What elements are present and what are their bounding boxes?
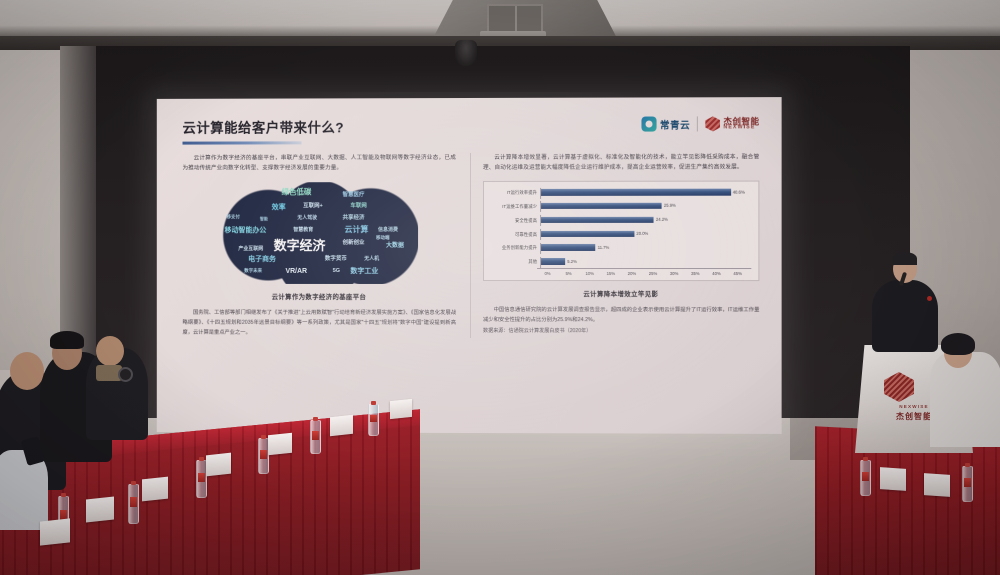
word-cloud-term: VR/AR: [285, 268, 307, 275]
audience-head-3: [96, 336, 124, 366]
chart-value-label: 20.0%: [636, 231, 648, 236]
hexagon-mark-icon: [705, 116, 720, 131]
nexwise-logo: 杰创智能 NEXWISE: [705, 116, 759, 131]
chart-category-label: 可靠性提高: [490, 232, 540, 238]
projection-screen: 云计算能给客户带来什么? 常青云 杰创智能 NEXWISE: [157, 97, 782, 434]
name-card: [40, 518, 70, 545]
word-cloud-term: 移动智能办公: [225, 227, 267, 234]
word-cloud-words: 数字经济云计算绿色低碳智慧医疗效率互联网+车联网无人驾驶共享经济移动智能办公智慧…: [221, 182, 418, 284]
word-cloud-term: 智能: [260, 218, 268, 222]
chart-x-axis: 0%5%10%15%20%25%30%35%40%45%: [537, 268, 751, 276]
water-bottle: [368, 404, 379, 436]
word-cloud-term: 智慧医疗: [343, 193, 365, 199]
right-paragraph: 云计算降本增效显著，云计算基于虚拟化、标准化及智能化的技术，能立竿见影降低采购成…: [483, 152, 759, 173]
audience-head-1: [10, 352, 44, 390]
bar-chart: IT运行效率提升40.6%IT运维工作量减少25.9%安全性提高24.2%可靠性…: [490, 187, 751, 275]
word-cloud-term: 移动端: [376, 236, 389, 240]
bottle-cap: [131, 481, 136, 485]
chart-row: 可靠性提高20.0%: [490, 229, 751, 240]
word-cloud-term: 产业互联网: [238, 247, 263, 252]
chart-track: 5.2%: [540, 257, 751, 268]
chart-value-label: 40.6%: [733, 189, 745, 194]
page-title: 云计算能给客户带来什么?: [183, 116, 345, 136]
changqingyun-label: 常青云: [660, 117, 690, 131]
nexwise-label-en: NEXWISE: [723, 125, 759, 130]
chart-row: IT运行效率提升40.6%: [490, 187, 751, 198]
word-cloud-term: 云计算: [345, 226, 369, 234]
word-cloud-term: 信息消费: [378, 228, 398, 233]
slide-header: 云计算能给客户带来什么? 常青云 杰创智能 NEXWISE: [183, 115, 760, 144]
word-cloud-term: 共享经济: [343, 216, 365, 222]
chart-track: 40.6%: [540, 187, 751, 198]
name-card: [268, 433, 292, 456]
word-cloud-term: 数字经济: [274, 239, 326, 252]
chart-value-label: 11.7%: [598, 245, 610, 250]
name-card: [924, 473, 950, 497]
chart-row: 业务创新能力提升11.7%: [490, 243, 751, 254]
chart-track: 24.2%: [540, 215, 751, 226]
name-card: [330, 415, 353, 436]
changqingyun-logo: 常青云: [642, 116, 690, 131]
water-bottle: [310, 420, 321, 454]
water-bottle: [860, 460, 871, 496]
chart-bar: [541, 244, 596, 251]
word-cloud-term: 绿色低碳: [282, 188, 312, 196]
word-cloud-term: 数字未来: [244, 269, 262, 273]
word-cloud-term: 大数据: [386, 243, 404, 249]
chart-bar: [541, 203, 662, 210]
data-source-note: 数据来源：信通院云计算发展白皮书（2020年）: [483, 327, 759, 336]
word-cloud-term: 创新创业: [343, 241, 365, 246]
chart-bar: [541, 258, 565, 265]
word-cloud-term: 数字货币: [325, 257, 347, 262]
projector-icon: [455, 40, 477, 66]
slide-content: 云计算能给客户带来什么? 常青云 杰创智能 NEXWISE: [157, 97, 782, 434]
left-column: 云计算作为数字经济的基座平台，串联产业互联网、大数据、人工智能及物联网等数字经济…: [183, 153, 456, 338]
conference-room-photo: 云计算能给客户带来什么? 常青云 杰创智能 NEXWISE: [0, 0, 1000, 575]
name-card: [390, 399, 412, 419]
chart-track: 11.7%: [540, 243, 751, 254]
title-underline: [183, 141, 302, 144]
audience-hair-2: [50, 331, 84, 349]
bottle-cap: [313, 417, 318, 421]
word-cloud-term: 互联网+: [303, 204, 323, 210]
chart-row: 其他5.2%: [490, 257, 751, 268]
camera-lens-icon: [118, 367, 133, 382]
speaker-hair: [893, 252, 917, 265]
chart-bar: [541, 189, 731, 196]
name-card: [880, 467, 906, 491]
chart-category-label: IT运行效率提升: [490, 190, 540, 196]
cloud-mark-icon: [642, 117, 657, 132]
word-cloud-term: 无人驾驶: [297, 216, 317, 221]
ceiling-vent: [487, 4, 543, 34]
right-column: 云计算降本增效显著，云计算基于虚拟化、标准化及智能化的技术，能立竿见影降低采购成…: [470, 152, 759, 338]
word-cloud-term: 效率: [272, 204, 286, 211]
chart-bar: [541, 230, 634, 237]
slide-title-block: 云计算能给客户带来什么?: [183, 116, 345, 144]
bottle-cap: [261, 435, 266, 439]
word-cloud-term: 电子商务: [248, 256, 276, 263]
bottle-cap: [199, 457, 204, 461]
word-cloud-term: 无人机: [364, 257, 379, 262]
slide-columns: 云计算作为数字经济的基座平台，串联产业互联网、大数据、人工智能及物联网等数字经济…: [183, 152, 760, 338]
bottle-cap: [863, 457, 868, 461]
logo-divider: [697, 116, 698, 131]
water-bottle: [128, 484, 139, 524]
bottle-cap: [371, 401, 376, 405]
right-figure-caption: 云计算降本增效立竿见影: [483, 289, 759, 298]
lapel-flower: [927, 296, 932, 301]
word-cloud-term: 智慧教育: [293, 228, 313, 233]
bottle-cap: [61, 493, 66, 497]
left-footnote: 国务院、工信部等部门相继发布了《关于推进"上云用数赋智"行动培育新经济发展实施方…: [183, 307, 456, 337]
word-cloud-term: 5G: [333, 269, 340, 274]
chart-track: 25.9%: [540, 201, 751, 212]
chart-category-label: 其他: [490, 259, 540, 265]
word-cloud-term: 移支付: [227, 216, 240, 220]
staff-body: [930, 352, 1000, 447]
name-card: [142, 477, 168, 502]
nexwise-text: 杰创智能 NEXWISE: [723, 117, 759, 131]
chart-row: 安全性提高24.2%: [490, 215, 751, 226]
right-footnote: 中国信息通信研究院的云计算发展调查报告显示，超四成的企业表示使用云计算提升了IT…: [483, 305, 759, 325]
chart-value-label: 24.2%: [656, 217, 668, 222]
chart-rows: IT运行效率提升40.6%IT运维工作量减少25.9%安全性提高24.2%可靠性…: [490, 187, 751, 267]
staff-hair: [941, 333, 975, 355]
bottle-cap: [965, 463, 970, 467]
left-figure-caption: 云计算作为数字经济的基座平台: [183, 292, 456, 301]
logo-group: 常青云 杰创智能 NEXWISE: [642, 116, 760, 131]
water-bottle: [962, 466, 973, 502]
word-cloud-figure: 数字经济云计算绿色低碳智慧医疗效率互联网+车联网无人驾驶共享经济移动智能办公智慧…: [221, 182, 418, 284]
word-cloud-term: 数字工业: [350, 268, 378, 275]
chart-track: 20.0%: [540, 229, 751, 240]
chart-category-label: IT运维工作量减少: [490, 204, 540, 210]
chart-x-tick: 45%: [724, 271, 751, 276]
chart-bar: [541, 217, 654, 224]
speaker-body: [872, 280, 938, 352]
chart-value-label: 5.2%: [567, 259, 577, 264]
left-paragraph: 云计算作为数字经济的基座平台，串联产业互联网、大数据、人工智能及物联网等数字经济…: [183, 153, 456, 174]
chart-row: IT运维工作量减少25.9%: [490, 201, 751, 212]
chart-value-label: 25.9%: [664, 203, 676, 208]
name-card: [86, 497, 114, 523]
name-card: [206, 453, 231, 477]
chart-container: IT运行效率提升40.6%IT运维工作量减少25.9%安全性提高24.2%可靠性…: [483, 180, 759, 281]
chart-category-label: 业务创新能力提升: [490, 245, 540, 251]
chart-category-label: 安全性提高: [490, 218, 540, 224]
word-cloud-term: 车联网: [350, 204, 366, 210]
